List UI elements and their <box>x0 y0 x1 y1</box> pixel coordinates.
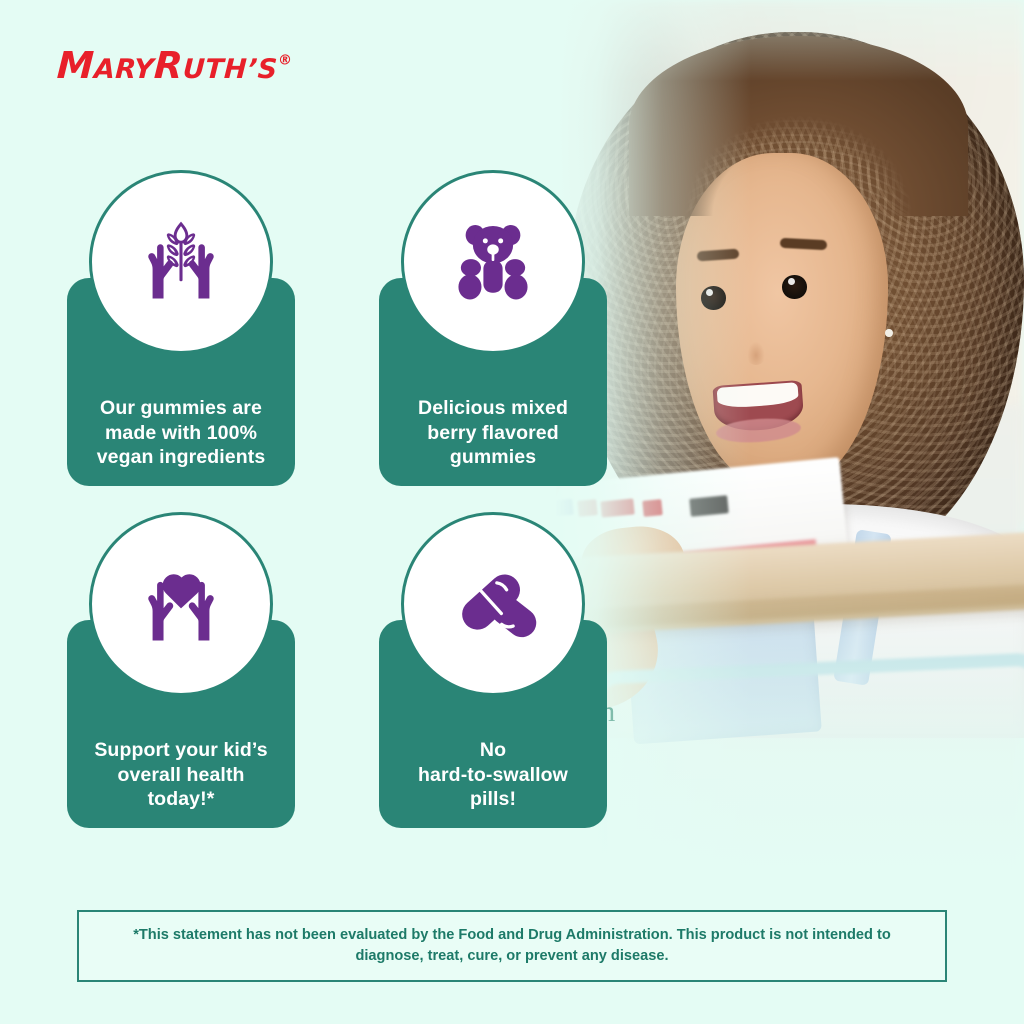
promo-graphic: m MARYRUTH’S® <box>0 0 1024 1024</box>
brand-logo: MARYRUTH’S® <box>56 44 293 87</box>
feature-card-label: Delicious mixed berry flavored gummies <box>387 396 599 470</box>
fda-disclaimer: *This statement has not been evaluated b… <box>77 910 947 982</box>
brand-logo-r: R <box>153 44 184 87</box>
child-photo <box>554 0 1024 900</box>
eye-right <box>782 275 806 298</box>
feature-card-mixed-berry-flavor[interactable]: Delicious mixed berry flavored gummies <box>379 278 607 486</box>
icon-circle <box>401 170 585 354</box>
brand-logo-m: M <box>56 44 95 87</box>
feature-card-overall-health[interactable]: Support your kid’s overall health today!… <box>67 620 295 828</box>
capsule-pills-icon <box>445 556 541 652</box>
brand-logo-s: ’S <box>246 54 278 85</box>
feature-card-no-pills[interactable]: No hard-to-swallow pills! <box>379 620 607 828</box>
icon-circle <box>89 170 273 354</box>
gummy-bear-icon <box>445 214 541 310</box>
icon-circle <box>401 512 585 696</box>
brand-logo-ary: ARY <box>93 54 155 85</box>
brand-logo-uth: UTH <box>182 54 248 85</box>
photo-fade-bottom <box>554 594 1024 900</box>
registered-trademark-icon: ® <box>278 53 293 69</box>
feature-card-label: No hard-to-swallow pills! <box>387 738 599 812</box>
earring <box>885 329 893 337</box>
feature-card-vegan-ingredients[interactable]: Our gummies are made with 100% vegan ing… <box>67 278 295 486</box>
hands-holding-wheat-icon <box>133 214 229 310</box>
icon-circle <box>89 512 273 696</box>
feature-card-label: Support your kid’s overall health today!… <box>75 738 287 812</box>
hands-holding-heart-icon <box>133 556 229 652</box>
feature-card-label: Our gummies are made with 100% vegan ing… <box>75 396 287 470</box>
